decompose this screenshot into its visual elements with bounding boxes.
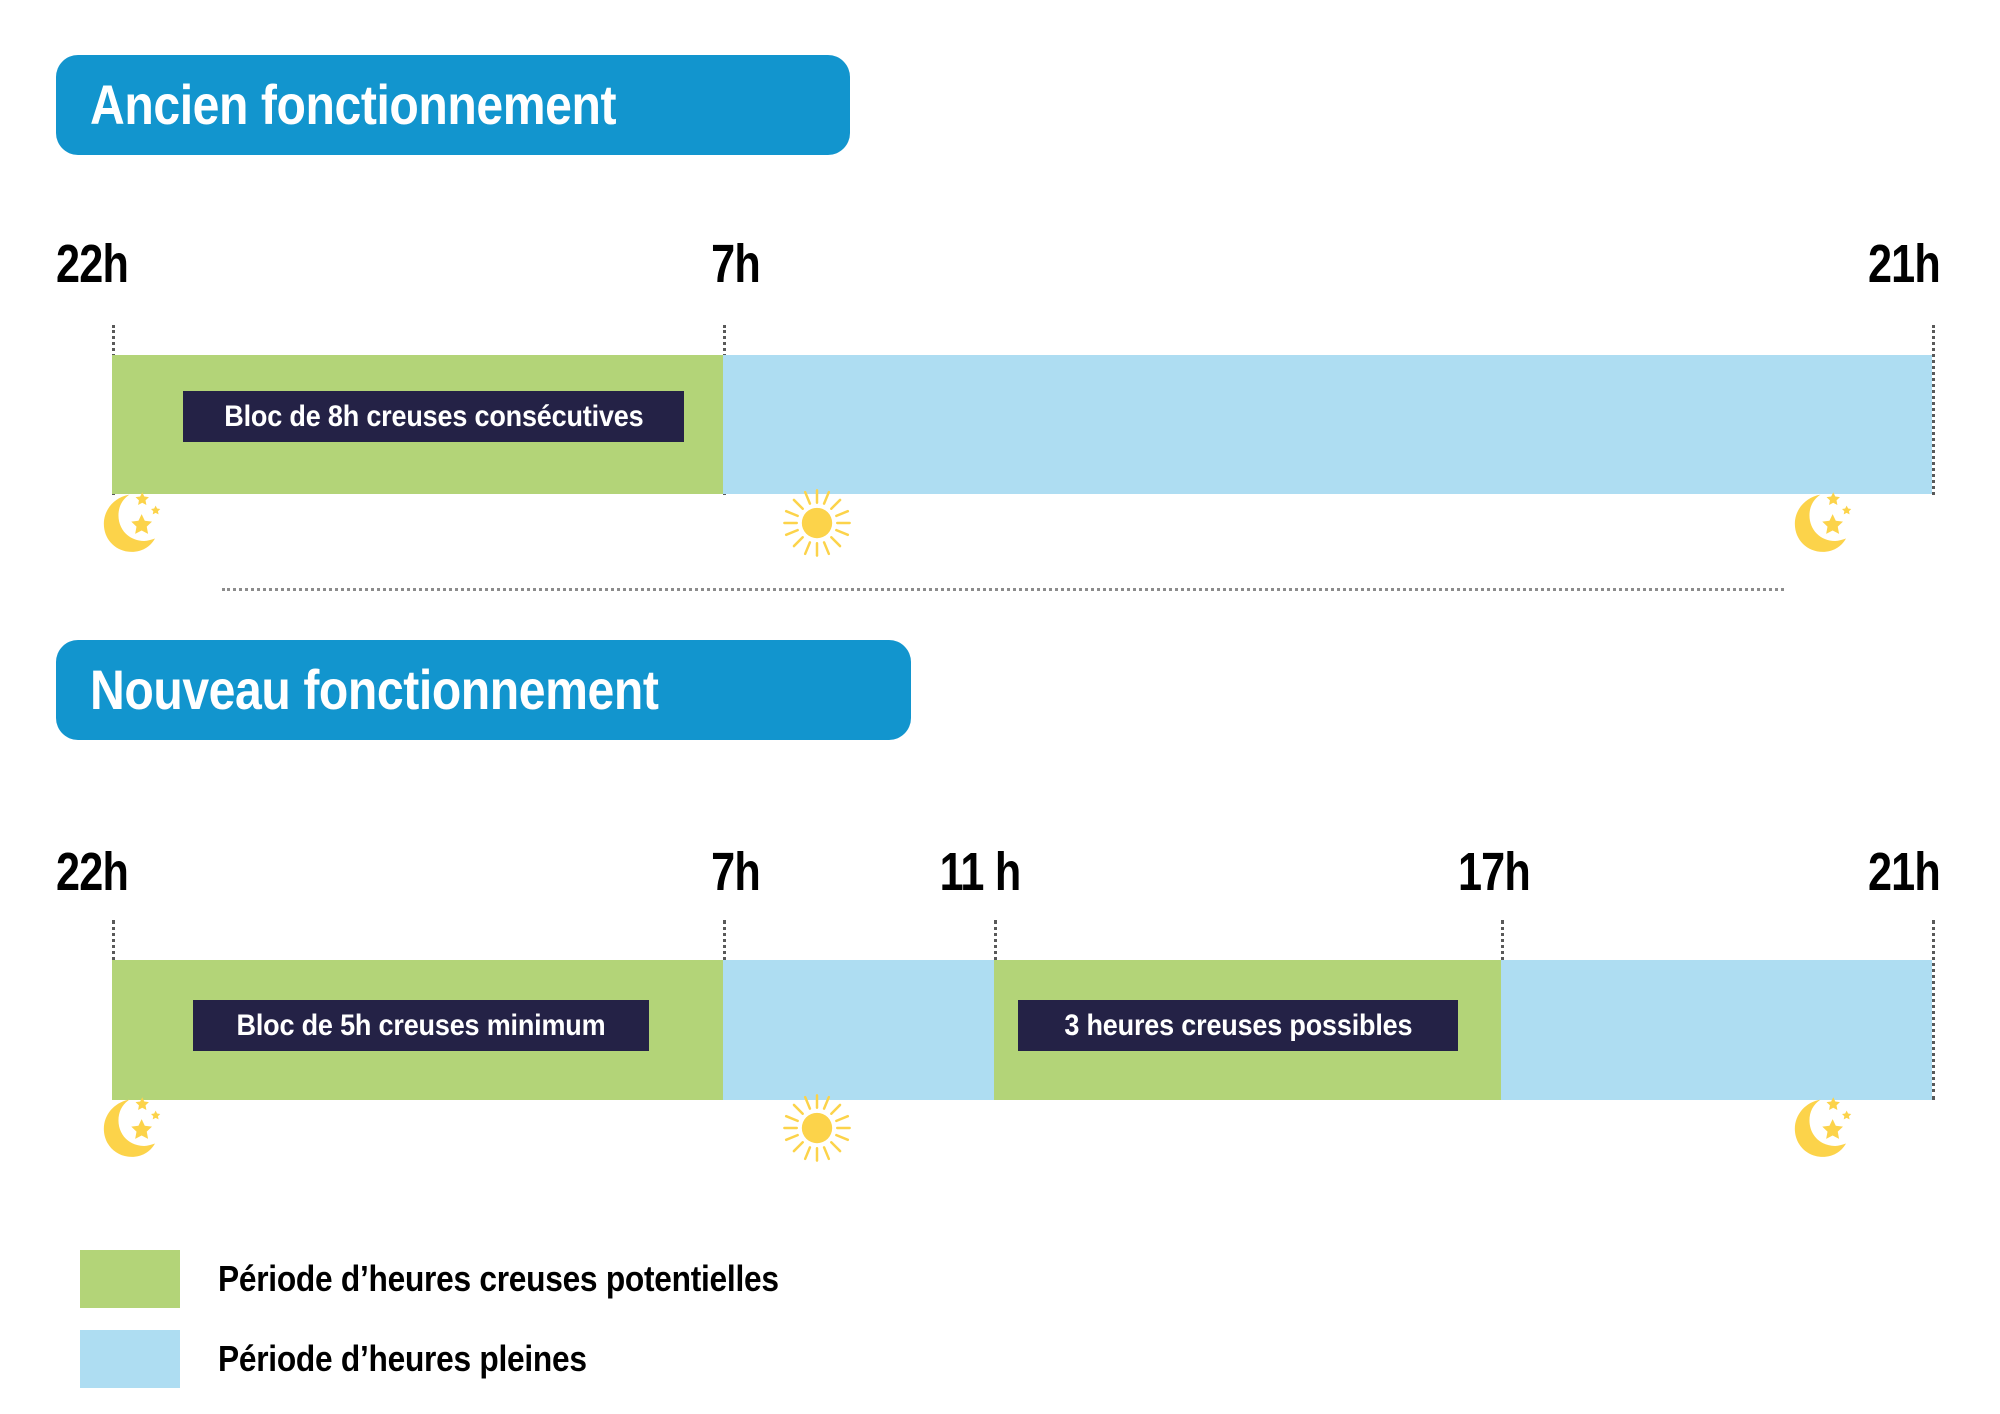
legend-item-creuses: Période d’heures creuses potentielles: [80, 1250, 855, 1308]
chip-bloc-8h-label: Bloc de 8h creuses consécutives: [224, 402, 643, 432]
tick-new-21h: [1932, 920, 1935, 1100]
chip-3-heures: 3 heures creuses possibles: [1018, 1000, 1458, 1051]
chip-bloc-5h-label: Bloc de 5h creuses minimum: [237, 1011, 606, 1041]
moon-stars-icon-old-start: [88, 480, 166, 558]
hour-label-old-22h: 22h: [56, 237, 128, 291]
banner-nouveau-fonctionnement: Nouveau fonctionnement: [56, 640, 911, 740]
legend: Période d’heures creuses potentielles Pé…: [80, 1250, 855, 1410]
sun-icon-old: [781, 487, 853, 559]
hour-label-new-7h: 7h: [600, 845, 760, 899]
segment-pleines-old: [723, 355, 1932, 494]
moon-stars-icon-new-start: [88, 1085, 166, 1163]
chip-bloc-5h: Bloc de 5h creuses minimum: [193, 1000, 649, 1051]
hour-label-new-22h: 22h: [56, 845, 128, 899]
moon-stars-icon-new-end: [1779, 1085, 1857, 1163]
legend-item-pleines: Période d’heures pleines: [80, 1330, 855, 1388]
segment-pleines-new-evening: [1501, 960, 1932, 1100]
banner-ancien-label: Ancien fonctionnement: [90, 77, 616, 133]
hour-label-new-21h: 21h: [1780, 845, 1940, 899]
hour-label-new-11h: 11 h: [892, 845, 1068, 899]
hour-label-old-7h: 7h: [600, 237, 760, 291]
legend-swatch-green: [80, 1250, 180, 1308]
hour-label-new-17h: 17h: [1370, 845, 1530, 899]
hour-label-old-21h: 21h: [1780, 237, 1940, 291]
infographic-canvas: Ancien fonctionnement 22h 7h 21h Bloc de…: [0, 0, 2000, 1414]
tick-old-21h: [1932, 325, 1935, 495]
legend-label-pleines: Période d’heures pleines: [218, 1341, 587, 1377]
moon-stars-icon-old-end: [1779, 480, 1857, 558]
section-divider: [222, 588, 1784, 591]
legend-swatch-blue: [80, 1330, 180, 1388]
segment-pleines-new-morning: [723, 960, 994, 1100]
legend-label-creuses: Période d’heures creuses potentielles: [218, 1261, 779, 1297]
sun-icon-new: [781, 1092, 853, 1164]
chip-3-heures-label: 3 heures creuses possibles: [1064, 1011, 1412, 1041]
banner-ancien-fonctionnement: Ancien fonctionnement: [56, 55, 850, 155]
banner-nouveau-label: Nouveau fonctionnement: [90, 662, 658, 718]
chip-bloc-8h: Bloc de 8h creuses consécutives: [183, 391, 684, 442]
